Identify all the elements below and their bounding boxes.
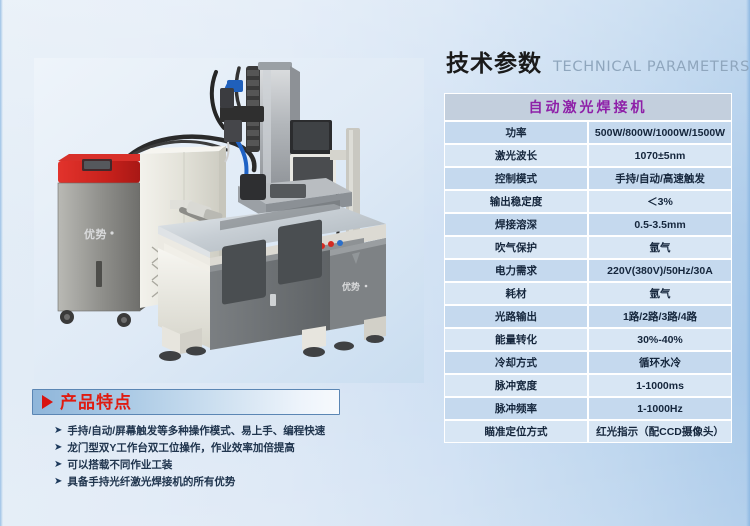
spec-value: 1-1000Hz (588, 397, 732, 420)
table-row: 耗材 氩气 (444, 282, 732, 305)
spec-label: 冷却方式 (444, 351, 588, 374)
spec-label: 耗材 (444, 282, 588, 305)
feature-item: ➤ 龙门型双Y工作台双工位操作，作业效率加倍提高 (32, 441, 340, 455)
table-row: 光路输出 1路/2路/3路/4路 (444, 305, 732, 328)
table-row: 控制模式 手持/自动/高速触发 (444, 167, 732, 190)
page-root: 优势 (0, 0, 750, 526)
feature-item: ➤ 具备手持光纤激光焊接机的所有优势 (32, 475, 340, 489)
spec-value: 500W/800W/1000W/1500W (588, 121, 732, 144)
table-row: 脉冲宽度 1-1000ms (444, 374, 732, 397)
chevron-right-icon: ➤ (54, 458, 62, 472)
spec-value: 1路/2路/3路/4路 (588, 305, 732, 328)
spec-label: 功率 (444, 121, 588, 144)
triangle-right-icon (42, 395, 53, 409)
spec-label: 激光波长 (444, 144, 588, 167)
spec-value: 0.5-3.5mm (588, 213, 732, 236)
feature-item: ➤ 可以搭载不同作业工装 (32, 458, 340, 472)
spec-label: 吹气保护 (444, 236, 588, 259)
features-title: 产品特点 (60, 394, 132, 411)
spec-value: 氩气 (588, 236, 732, 259)
spec-value: ＜3% (588, 190, 732, 213)
table-row: 能量转化 30%-40% (444, 328, 732, 351)
spec-label: 瞄准定位方式 (444, 420, 588, 443)
spec-table-head-row: 自动激光焊接机 (444, 93, 732, 121)
spec-value: 循环水冷 (588, 351, 732, 374)
spec-label: 脉冲宽度 (444, 374, 588, 397)
spec-title-chinese: 技术参数 (446, 52, 542, 75)
spec-value: 220V(380V)/50Hz/30A (588, 259, 732, 282)
spec-value: 氩气 (588, 282, 732, 305)
table-row: 输出稳定度 ＜3% (444, 190, 732, 213)
feature-item-text: 龙门型双Y工作台双工位操作，作业效率加倍提高 (67, 441, 295, 455)
features-list: ➤ 手持/自动/屏幕触发等多种操作模式、易上手、编程快速 ➤ 龙门型双Y工作台双… (32, 424, 340, 489)
spec-value: 1070±5nm (588, 144, 732, 167)
product-photo: 优势 (34, 58, 424, 383)
product-photo-illustration: 优势 (34, 58, 424, 383)
table-row: 焊接溶深 0.5-3.5mm (444, 213, 732, 236)
spec-label: 光路输出 (444, 305, 588, 328)
spec-label: 能量转化 (444, 328, 588, 351)
spec-label: 焊接溶深 (444, 213, 588, 236)
table-row: 吹气保护 氩气 (444, 236, 732, 259)
table-row: 脉冲频率 1-1000Hz (444, 397, 732, 420)
spec-table: 自动激光焊接机 功率 500W/800W/1000W/1500W 激光波长 10… (444, 93, 732, 443)
svg-text:优势: 优势 (342, 281, 360, 293)
spec-value: 手持/自动/高速触发 (588, 167, 732, 190)
left-edge-shade (0, 0, 3, 526)
table-row: 电力需求 220V(380V)/50Hz/30A (444, 259, 732, 282)
table-row: 冷却方式 循环水冷 (444, 351, 732, 374)
table-row: 功率 500W/800W/1000W/1500W (444, 121, 732, 144)
spec-title-english: TECHNICAL PARAMETERS (553, 60, 750, 75)
table-row: 瞄准定位方式 红光指示（配CCD摄像头） (444, 420, 732, 443)
chevron-right-icon: ➤ (54, 475, 62, 489)
feature-item-text: 具备手持光纤激光焊接机的所有优势 (67, 475, 235, 489)
chevron-right-icon: ➤ (54, 424, 62, 438)
spec-label: 控制模式 (444, 167, 588, 190)
right-edge-shade (746, 0, 750, 526)
feature-item: ➤ 手持/自动/屏幕触发等多种操作模式、易上手、编程快速 (32, 424, 340, 438)
spec-value: 1-1000ms (588, 374, 732, 397)
feature-item-text: 可以搭载不同作业工装 (67, 458, 172, 472)
spec-value: 30%-40% (588, 328, 732, 351)
chevron-right-icon: ➤ (54, 441, 62, 455)
spec-label: 输出稳定度 (444, 190, 588, 213)
spec-label: 电力需求 (444, 259, 588, 282)
product-name-cell: 自动激光焊接机 (444, 93, 732, 121)
svg-text:优势: 优势 (84, 227, 107, 241)
feature-item-text: 手持/自动/屏幕触发等多种操作模式、易上手、编程快速 (67, 424, 325, 438)
spec-value: 红光指示（配CCD摄像头） (588, 420, 732, 443)
spec-label: 脉冲频率 (444, 397, 588, 420)
features-header: 产品特点 (32, 389, 340, 415)
table-row: 激光波长 1070±5nm (444, 144, 732, 167)
spec-table-container: 自动激光焊接机 功率 500W/800W/1000W/1500W 激光波长 10… (444, 93, 732, 443)
product-features-section: 产品特点 ➤ 手持/自动/屏幕触发等多种操作模式、易上手、编程快速 ➤ 龙门型双… (32, 389, 340, 492)
